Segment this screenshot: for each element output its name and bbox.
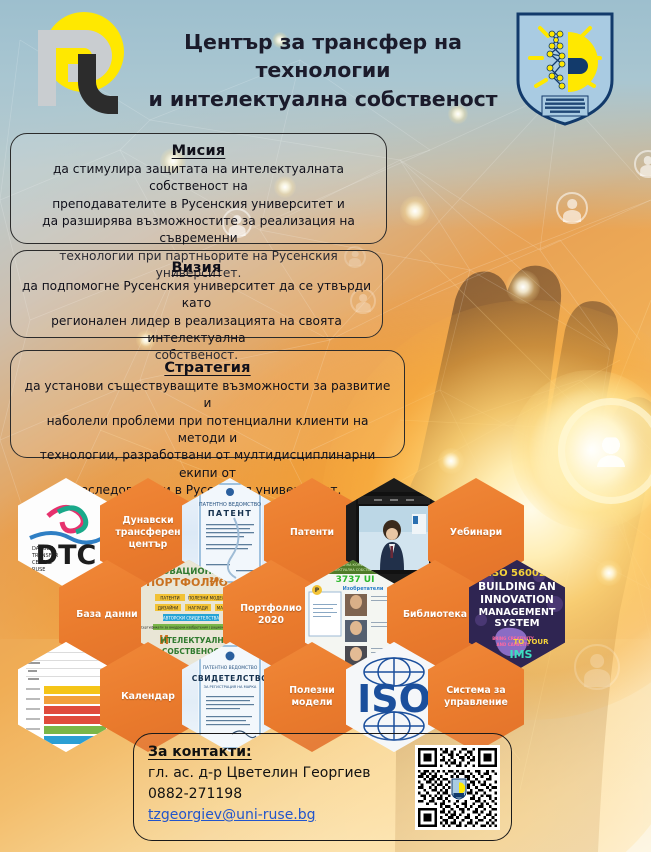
svg-text:RUSE: RUSE: [32, 567, 45, 573]
svg-text:ПОРТФОЛИО: ПОРТФОЛИО: [146, 576, 228, 589]
svg-text:MANAGEMENT: MANAGEMENT: [479, 607, 556, 618]
vision-line: регионален лидер в реализацията на своят…: [21, 313, 372, 348]
vision-heading: Визия: [21, 260, 372, 276]
svg-text:НАГРАДИ: НАГРАДИ: [188, 605, 207, 610]
ru-logo: [22, 8, 134, 116]
svg-text:ПАТЕНТИ: ПАТЕНТИ: [160, 595, 179, 600]
svg-text:SYSTEM: SYSTEM: [494, 618, 539, 629]
svg-text:ДИЗАЙНИ: ДИЗАЙНИ: [158, 605, 178, 610]
svg-text:ПАТЕНТНО ВЕДОМСТВО: ПАТЕНТНО ВЕДОМСТВО: [203, 665, 258, 671]
svg-text:НАЦИОНАЛНА КОНФЕРЕНЦИЯ: НАЦИОНАЛНА КОНФЕРЕНЦИЯ: [326, 563, 380, 567]
strategy-heading: Стратегия: [21, 360, 394, 376]
svg-text:ИНТЕЛЕКТУАЛНА СОБСТВЕНОСТ: ИНТЕЛЕКТУАЛНА СОБСТВЕНОСТ: [324, 568, 382, 572]
svg-text:DANUBE: DANUBE: [32, 546, 53, 552]
svg-text:ПОЛЕЗНИ МОДЕЛИ: ПОЛЕЗНИ МОДЕЛИ: [188, 595, 228, 600]
svg-text:СВИДЕТЕЛСТВО: СВИДЕТЕЛСТВО: [192, 674, 269, 683]
svg-text:INNOVATION: INNOVATION: [480, 594, 554, 606]
svg-text:TRANSFER: TRANSFER: [31, 553, 59, 559]
strategy-line: да установи съществуващите възможности з…: [21, 378, 394, 413]
poster-root: Център за трансфер на технологии и интел…: [0, 0, 651, 852]
ttip-shield-emblem: [512, 6, 618, 128]
page-title: Център за трансфер на технологии и интел…: [128, 28, 518, 113]
strategy-line: технологии, разработвани от мултидисципл…: [21, 447, 394, 482]
vision-card: Визия да подпомогне Русенския университе…: [10, 250, 383, 338]
svg-text:Изобретатели: Изобретатели: [343, 585, 384, 592]
strategy-card: Стратегия да установи съществуващите въз…: [10, 350, 405, 458]
contact-qr-code[interactable]: [415, 745, 500, 830]
svg-text:ПАТЕНТ: ПАТЕНТ: [208, 509, 252, 518]
svg-text:ISO: ISO: [357, 677, 431, 721]
mission-line: да стимулира защитата на интелектуалната…: [21, 161, 376, 196]
mission-card: Мисия да стимулира защитата на интелекту…: [10, 133, 387, 244]
vision-line: да подпомогне Русенския университет да с…: [21, 278, 372, 313]
mission-heading: Мисия: [21, 143, 376, 159]
svg-text:BUILDING AN: BUILDING AN: [478, 581, 556, 593]
svg-text:АВТОРСКИ СВИДЕТЕЛСТВА: АВТОРСКИ СВИДЕТЕЛСТВА: [163, 615, 220, 620]
mission-line: преподавателите в Русенския университет …: [21, 196, 376, 213]
title-line-1: Център за трансфер на технологии: [184, 30, 462, 82]
poster-header: Център за трансфер на технологии и интел…: [0, 0, 651, 120]
svg-text:Р: Р: [315, 587, 320, 594]
mission-line: да разширява възможностите за реализация…: [21, 213, 376, 248]
strategy-line: наболели проблеми при потенциални клиент…: [21, 413, 394, 448]
svg-text:ПАТЕНТНО ВЕДОМСТВО: ПАТЕНТНО ВЕДОМСТВО: [199, 502, 261, 508]
svg-text:ЗА РЕГИСТРАЦИЯ НА МАРКА: ЗА РЕГИСТРАЦИЯ НА МАРКА: [204, 685, 257, 689]
contact-card: За контакти: гл. ас. д-р Цветелин Георги…: [133, 733, 512, 841]
svg-text:ISO 56002: ISO 56002: [488, 568, 546, 579]
svg-text:3737 UI: 3737 UI: [336, 575, 375, 585]
title-line-2: и интелектуална собственост: [128, 85, 518, 113]
svg-text:CENTRE: CENTRE: [32, 560, 52, 566]
